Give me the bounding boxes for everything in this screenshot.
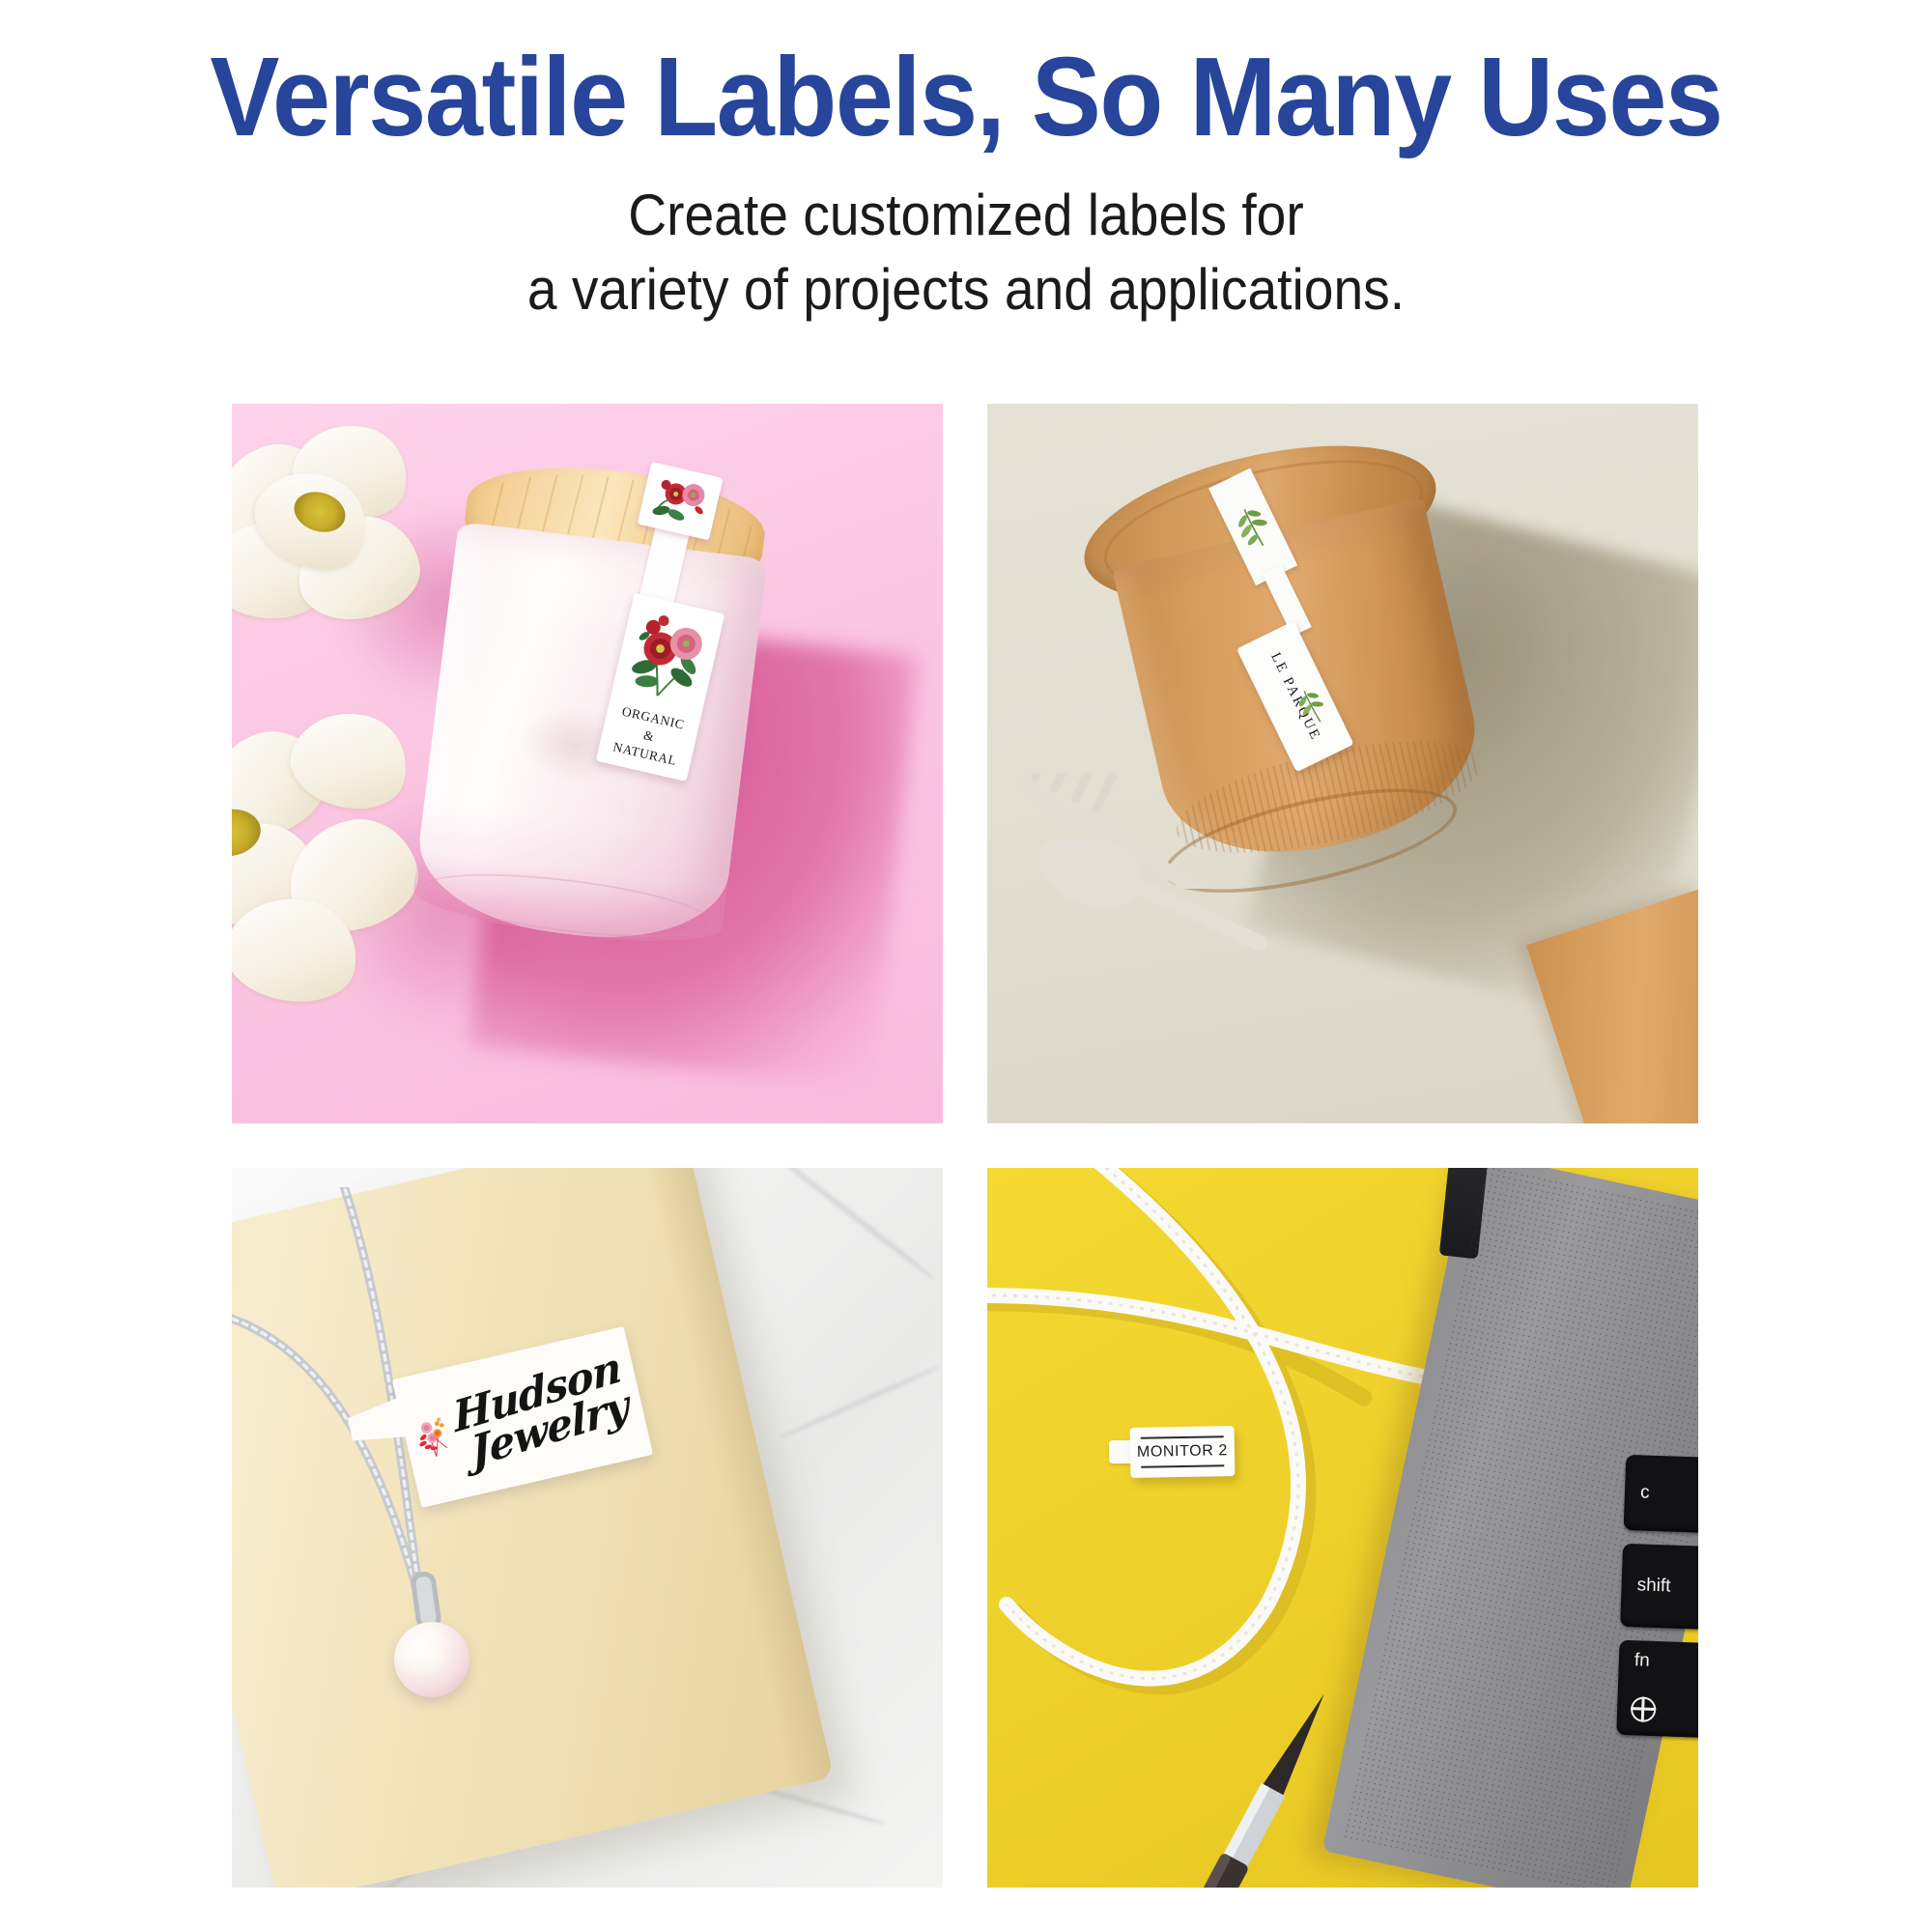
photo-jewelry-box: Hudson Jewelry bbox=[232, 1168, 943, 1888]
white-rose bbox=[232, 417, 456, 639]
photo-candle-jar: ORGANIC & NATURAL bbox=[232, 404, 943, 1123]
photo-kraft-cup: LE PARQUE bbox=[987, 404, 1698, 1123]
key-shift[interactable]: shift bbox=[1620, 1544, 1698, 1633]
header: Versatile Labels, So Many Uses Create cu… bbox=[0, 0, 1932, 327]
subtitle-line-2: a variety of projects and applications. bbox=[77, 253, 1855, 327]
subtitle: Create customized labels for a variety o… bbox=[77, 179, 1855, 327]
spoon bbox=[1026, 838, 1287, 954]
key-c[interactable]: c bbox=[1624, 1455, 1698, 1536]
label-rule-bottom bbox=[1141, 1464, 1224, 1468]
photo-grid: ORGANIC & NATURAL bbox=[232, 404, 1698, 1869]
key-fn[interactable]: fn bbox=[1616, 1640, 1698, 1741]
tag-script-text: Hudson Jewelry bbox=[452, 1349, 631, 1477]
globe-icon bbox=[1631, 1696, 1657, 1722]
monitor-2-label: MONITOR 2 bbox=[1130, 1426, 1236, 1478]
label-rule-top bbox=[1141, 1435, 1224, 1439]
label-text: MONITOR 2 bbox=[1137, 1442, 1228, 1462]
marketing-infographic: Versatile Labels, So Many Uses Create cu… bbox=[0, 0, 1932, 1932]
rose-artwork-icon bbox=[645, 469, 715, 532]
keyboard: c shift fn bbox=[1612, 1455, 1698, 1866]
rose-artwork-icon bbox=[620, 605, 715, 712]
key-fn-label: fn bbox=[1634, 1650, 1651, 1672]
candle-jar: ORGANIC & NATURAL bbox=[409, 452, 775, 969]
pearl-pendant bbox=[394, 1622, 469, 1697]
photo-cable-label: MONITOR 2 c shift fn bbox=[987, 1168, 1698, 1888]
page-title: Versatile Labels, So Many Uses bbox=[68, 37, 1864, 157]
subtitle-line-1: Create customized labels for bbox=[77, 179, 1855, 253]
tag-text-block: ORGANIC & NATURAL bbox=[611, 701, 687, 770]
